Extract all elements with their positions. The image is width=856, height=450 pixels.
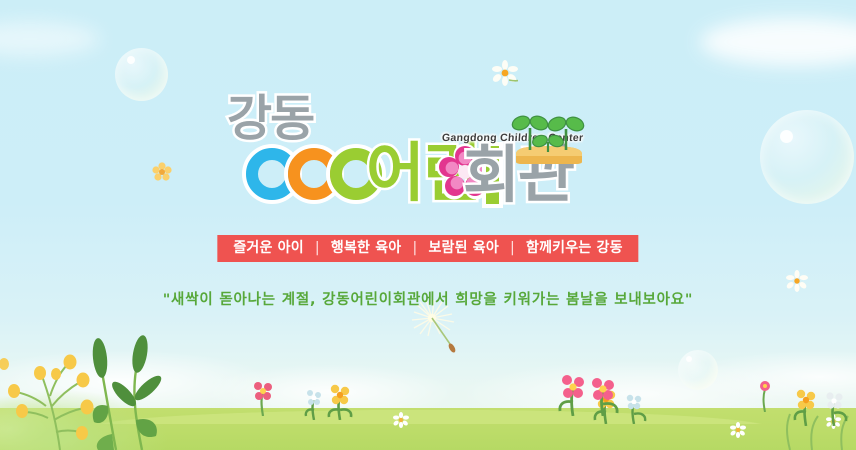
slogan-item-2: 행복한 육아 bbox=[331, 240, 401, 256]
daisy-top-center-icon bbox=[492, 60, 518, 86]
daisy-ground-right-icon bbox=[730, 422, 746, 438]
ground-flowers-far-right-cluster bbox=[790, 382, 856, 426]
bubble-bottom-right bbox=[678, 350, 718, 390]
cloud-top-right bbox=[700, 18, 856, 66]
slogan-bar: 즐거운 아이 | 행복한 육아 | 보람된 육아 | 함께키우는 강동 bbox=[217, 235, 638, 262]
slogan-separator-2: | bbox=[406, 240, 423, 256]
slogan-item-1: 즐거운 아이 bbox=[233, 240, 303, 256]
ground-flowers-left-cluster bbox=[300, 380, 370, 420]
slogan-separator-1: | bbox=[309, 240, 326, 256]
dandelion-seed-icon bbox=[398, 300, 478, 370]
ground-flower-red-left bbox=[248, 378, 278, 416]
slogan-item-3: 보람된 육아 bbox=[428, 240, 498, 256]
left-plants-illustration bbox=[0, 310, 290, 450]
bubble-gloss bbox=[686, 356, 692, 362]
cloud-top-left bbox=[0, 22, 100, 56]
bubble-gloss bbox=[127, 56, 135, 64]
bubble-top-left bbox=[115, 48, 168, 101]
banner-stage: 강동 어린 bbox=[0, 0, 856, 450]
site-logo[interactable]: 강동 어린 bbox=[0, 96, 856, 226]
logo-top-word: 강동 bbox=[227, 94, 313, 143]
ground-flower-pink-right-tall bbox=[752, 378, 778, 412]
ground-flowers-pink-cluster bbox=[555, 368, 635, 416]
tagline-text: "새싹이 돋아나는 계절, 강동어린이회관에서 희망을 키워가는 봄날을 보내보… bbox=[0, 288, 856, 309]
sprout-icon bbox=[510, 114, 588, 164]
slogan-separator-3: | bbox=[504, 240, 521, 256]
slogan-item-4: 함께키우는 강동 bbox=[526, 240, 623, 256]
daisy-ground-center-icon bbox=[393, 412, 409, 428]
